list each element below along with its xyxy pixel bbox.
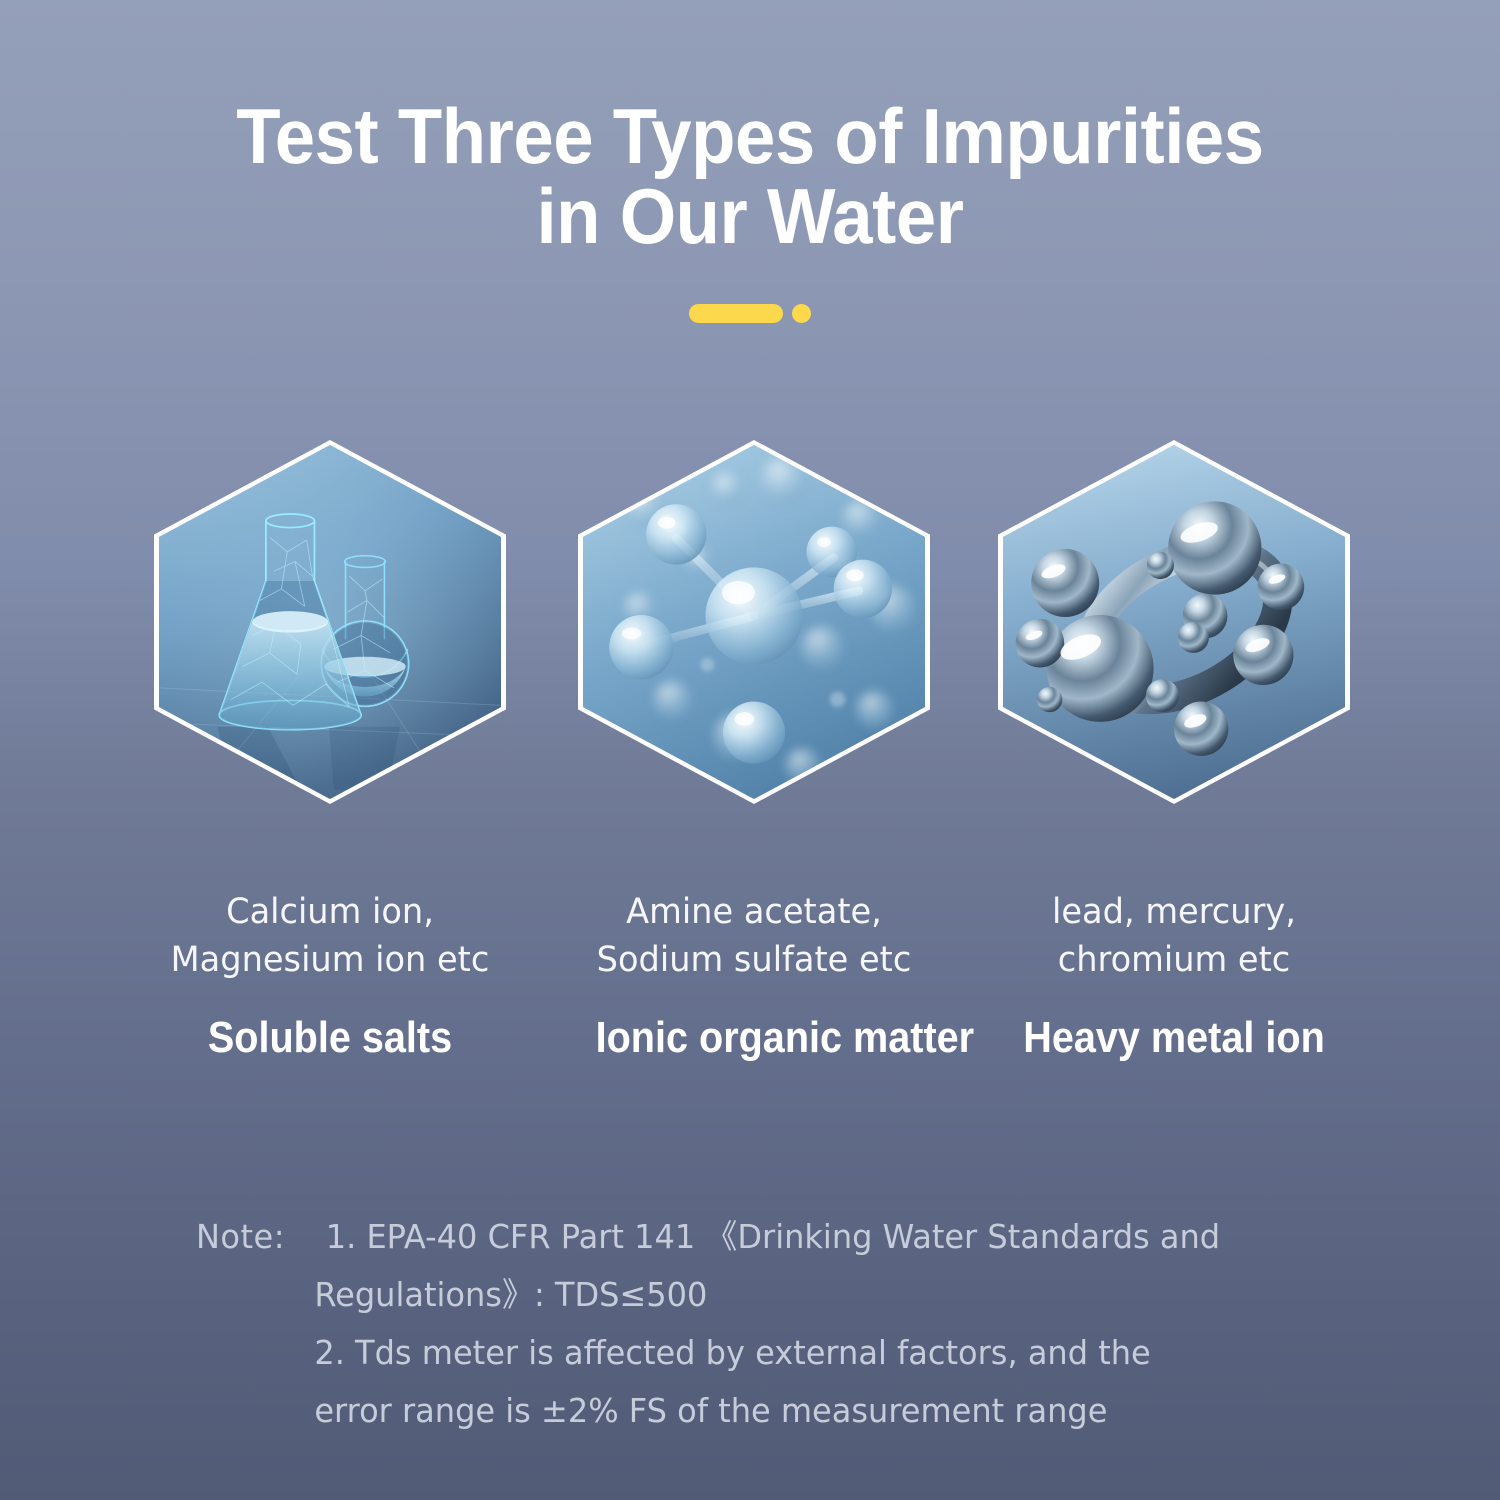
hexagon-image-row [150,440,1350,804]
note-line-3: 2. Tds meter is affected by external fac… [196,1324,1321,1382]
hexagon-card-soluble-salts [154,440,506,804]
caption-soluble-salts: Calcium ion, Magnesium ion etc Soluble s… [154,888,506,1066]
caption-label: Soluble salts [172,1010,489,1066]
caption-example-line-1: Amine acetate, [585,888,923,936]
hexagon-image-frame [583,445,925,799]
caption-example-line-1: lead, mercury, [1005,888,1343,936]
note-line-2: Regulations》: TDS≤500 [196,1266,1321,1324]
divider-bar-icon [689,304,783,323]
laboratory-flask-wireframe-image [159,445,501,799]
title-line-1: Test Three Types of Impurities [53,96,1448,176]
note-line-1: 1. EPA-40 CFR Part 141 《Drinking Water S… [326,1217,1220,1256]
molecule-water-droplet-image [583,445,925,799]
caption-example-line-2: chromium etc [1005,936,1343,984]
note-label: Note: [196,1217,285,1256]
caption-row: Calcium ion, Magnesium ion etc Soluble s… [150,888,1350,1068]
page-title: Test Three Types of Impurities in Our Wa… [0,96,1500,256]
caption-example-line-1: Calcium ion, [161,888,499,936]
hexagon-image-frame [1003,445,1345,799]
infographic-page: Test Three Types of Impurities in Our Wa… [0,0,1500,1500]
caption-label: Ionic organic matter [596,1010,913,1066]
caption-heavy-metal-ion: lead, mercury, chromium etc Heavy metal … [998,888,1350,1066]
title-divider [0,304,1500,323]
hexagon-card-heavy-metal-ion [998,440,1350,804]
note-first-line: Note: 1. EPA-40 CFR Part 141 《Drinking W… [196,1208,1321,1266]
note-line-4: error range is ±2% FS of the measurement… [196,1382,1321,1440]
heavy-metal-spheres-image [1003,445,1345,799]
title-line-2: in Our Water [53,176,1448,256]
note-block: Note: 1. EPA-40 CFR Part 141 《Drinking W… [196,1208,1356,1440]
caption-example-line-2: Sodium sulfate etc [585,936,923,984]
hexagon-image-frame [159,445,501,799]
divider-dot-icon [792,304,811,323]
caption-ionic-organic-matter: Amine acetate, Sodium sulfate etc Ionic … [578,888,930,1066]
hexagon-card-ionic-organic-matter [578,440,930,804]
caption-label: Heavy metal ion [1016,1010,1333,1066]
caption-example-line-2: Magnesium ion etc [161,936,499,984]
